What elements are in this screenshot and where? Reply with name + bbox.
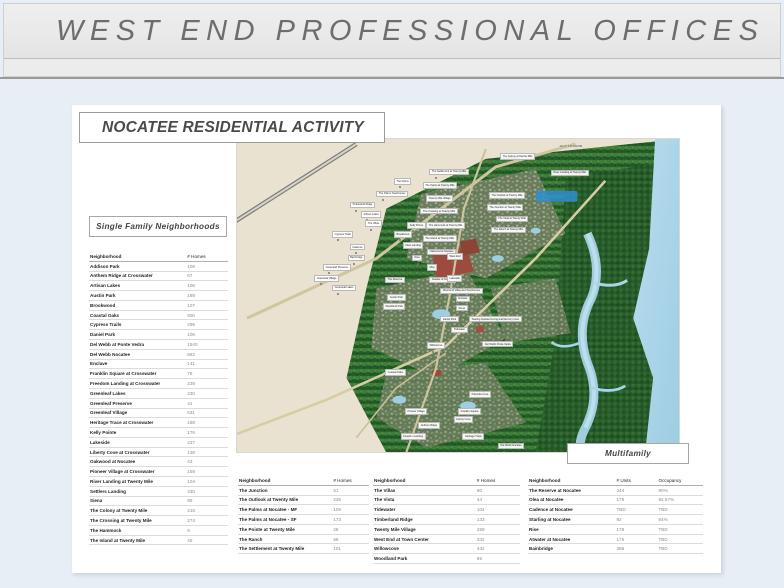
- map-callout-label: Daniel Park: [440, 316, 458, 323]
- single-family-section-label: Single Family Neighborhoods: [96, 222, 220, 231]
- table-row: Greenleaf Village531: [89, 408, 228, 418]
- table-row: Daniel Park106: [89, 330, 228, 340]
- neighborhood-name-cell: Liberty Cove at Crosswater: [89, 447, 186, 457]
- value-cell: TBD: [658, 544, 704, 554]
- map-callout-label: Artisan Lakes: [361, 211, 382, 218]
- map-location-pin: [446, 324, 448, 326]
- neighborhood-name-cell: Cadence at Nocatee: [528, 505, 616, 515]
- map-callout-label: The Colony at Twenty Mile: [500, 153, 535, 160]
- value-cell: 109: [332, 505, 369, 515]
- table-row: The Pointe at Twenty Mile28: [238, 524, 369, 534]
- value-cell: 85: [186, 496, 228, 506]
- header-divider-rule: [0, 77, 784, 79]
- neighborhood-name-cell: The Crossing at Twenty Mile: [89, 516, 186, 526]
- map-callout-label: The Palms at Twenty Mile: [423, 182, 457, 189]
- value-cell: 1940: [186, 340, 228, 350]
- page-title: WEST END PROFESSIONAL OFFICES: [56, 15, 764, 48]
- neighborhood-name-cell: The Junction: [238, 485, 332, 495]
- slide-title-box: NOCATEE RESIDENTIAL ACTIVITY: [79, 112, 385, 143]
- value-cell: 237: [186, 437, 228, 447]
- table-row: Anthem Ridge at Crosswater67: [89, 271, 228, 281]
- multifamily-section-tag: Multifamily: [567, 443, 689, 464]
- bottom-table-1-wrap: Neighborhood# Homes The Junction51The Ou…: [238, 476, 369, 554]
- table-row: Twenty Mile Village259: [373, 524, 520, 534]
- value-cell: 41: [186, 398, 228, 408]
- neighborhood-name-cell: Twenty Mile Village: [373, 524, 476, 534]
- value-cell: 239: [186, 379, 228, 389]
- map-location-pin: [426, 216, 428, 218]
- map-location-pin: [503, 451, 505, 453]
- map-location-pin: [457, 335, 459, 337]
- neighborhood-name-cell: Bainbridge: [528, 544, 616, 554]
- map-callout-label: The Settlement at Twenty Mile: [429, 169, 468, 176]
- value-cell: 28: [332, 524, 369, 534]
- value-cell: 900: [186, 310, 228, 320]
- neighborhood-name-cell: Anthem Ridge at Crosswater: [89, 271, 186, 281]
- table-row: Starling at Nocatee9294%: [528, 515, 703, 525]
- map-callout-label: Austin Park: [387, 294, 405, 301]
- table-row: Del Webb Nocatee862: [89, 349, 228, 359]
- neighborhood-name-cell: Cypress Trails: [89, 320, 186, 330]
- neighborhood-name-cell: Willowcove: [373, 544, 476, 554]
- bottom-table-1: Neighborhood# Homes The Junction51The Ou…: [238, 476, 369, 554]
- table-row: Lakeside237: [89, 437, 228, 447]
- value-cell: 274: [186, 516, 228, 526]
- map-callout-label: Cypress Trails: [332, 231, 353, 238]
- multifamily-table: Neighborhood# UnitsOccupancy The Reserve…: [528, 476, 703, 554]
- map-callout-label: River Landing at Twenty Mile: [551, 170, 589, 177]
- map-callout-label: Anthem Ridge: [418, 422, 439, 429]
- map-callout-label: Freedom Landing: [401, 433, 426, 440]
- table-row: Greenleaf Lakes230: [89, 388, 228, 398]
- table-row: Oakwood at Nocatee43: [89, 457, 228, 467]
- map-callout-label: The Junction at Twenty Mile: [487, 204, 524, 211]
- page-header-banner: WEST END PROFESSIONAL OFFICES: [3, 3, 781, 59]
- value-cell: 67: [186, 271, 228, 281]
- table-row: The Junction51: [238, 485, 369, 495]
- table-row: Siena85: [89, 496, 228, 506]
- value-cell: 218: [186, 506, 228, 516]
- map-callout-label: Woodland Park: [383, 303, 406, 310]
- map-location-pin: [556, 178, 558, 180]
- value-cell: 44: [476, 495, 520, 505]
- value-cell: 65: [476, 554, 520, 564]
- map-callout-label: The Reserve: [385, 277, 405, 284]
- map-location-pin: [488, 349, 490, 351]
- map-callout-label: The Vista at Twenty Mile: [496, 216, 529, 223]
- neighborhood-name-cell: The Outlook at Twenty Mile: [238, 495, 332, 505]
- neighborhood-name-cell: Pioneer Village at Crosswater: [89, 467, 186, 477]
- table-header-row: Neighborhood# Homes: [238, 476, 369, 485]
- map-location-pin: [382, 199, 384, 201]
- neighborhood-name-cell: The Vista: [373, 495, 476, 505]
- neighborhood-name-cell: Greenleaf Village: [89, 408, 186, 418]
- table-row: Willowcove442: [373, 544, 520, 554]
- neighborhood-name-cell: The Palms at Nocatee - MF: [238, 505, 332, 515]
- table-row: River Landing at Twenty Mile104: [89, 476, 228, 486]
- neighborhood-name-cell: The Hammock: [89, 525, 186, 535]
- value-cell: TBD: [658, 505, 704, 515]
- map-callout-label: Coastal Oaks: [385, 369, 406, 376]
- column-header: Neighborhood: [89, 252, 186, 261]
- value-cell: 244: [616, 485, 658, 495]
- neighborhood-name-cell: Daniel Park: [89, 330, 186, 340]
- aerial-map[interactable]: GUY LEGEND PARC The Colony at Twenty Mil…: [236, 138, 680, 453]
- neighborhood-name-cell: Timberland Ridge: [373, 515, 476, 525]
- neighborhood-name-cell: West End at Town Center: [373, 534, 476, 544]
- neighborhood-name-cell: Woodland Park: [373, 554, 476, 564]
- table-row: Timberland Ridge133: [373, 515, 520, 525]
- map-callout-label: Rise: [427, 264, 437, 271]
- bottom-table-2-wrap: Neighborhood# Homes The Villas90The Vist…: [373, 476, 520, 564]
- neighborhood-name-cell: The Settlement at Twenty Mile: [238, 544, 332, 554]
- table-row: The Palms at Nocatee - SF173: [238, 515, 369, 525]
- value-cell: 107: [186, 300, 228, 310]
- column-header: # Homes: [476, 476, 520, 485]
- neighborhood-name-cell: Settlers Landing: [89, 486, 186, 496]
- value-cell: TBD: [658, 534, 704, 544]
- value-cell: 175: [616, 534, 658, 544]
- value-cell: 9: [186, 525, 228, 535]
- value-cell: 230: [186, 388, 228, 398]
- column-header: # Homes: [186, 252, 228, 261]
- table-row: Cypress Trails295: [89, 320, 228, 330]
- value-cell: 94%: [658, 515, 704, 525]
- neighborhood-name-cell: Austin Park: [89, 291, 186, 301]
- map-water-label: GUY LEGEND: [560, 144, 583, 148]
- table-row: Freedom Landing at Crosswater239: [89, 379, 228, 389]
- slide-title: NOCATEE RESIDENTIAL ACTIVITY: [102, 119, 364, 137]
- map-callout-label: Kelly Pointe: [407, 222, 426, 229]
- map-callout-label: Liberty Cove: [454, 416, 474, 423]
- table-row: The Hammock9: [89, 525, 228, 535]
- map-callout-label: The Crossing at Twenty Mile: [420, 208, 457, 215]
- map-callout-label: Twenty Mile Village: [426, 195, 453, 202]
- map-callout-label: Pioneer Village: [405, 408, 427, 415]
- table-row: Tidewater104: [373, 505, 520, 515]
- table-row: Enclave141: [89, 359, 228, 369]
- map-callout-label: West End Villas and Townhomes: [440, 288, 482, 295]
- table-row: The Reserve at Nocatee24490%: [528, 485, 703, 495]
- map-callout-label: Del Webb Ponte Vedra: [482, 341, 513, 348]
- neighborhood-name-cell: Atwater at Nocatee: [528, 534, 616, 544]
- value-cell: 106: [186, 330, 228, 340]
- map-callout-label: The Palms Townhomes: [376, 191, 408, 198]
- map-callout-label: Willowcove: [427, 342, 445, 349]
- map-location-pin: [435, 285, 437, 287]
- value-cell: 101: [332, 544, 369, 554]
- column-header: Neighborhood: [373, 476, 476, 485]
- table-row: Pioneer Village at Crosswater159: [89, 467, 228, 477]
- neighborhood-name-cell: Rise: [528, 524, 616, 534]
- map-location-pin: [435, 177, 437, 179]
- map-callout-label: Greenleaf Lakes: [332, 285, 356, 292]
- neighborhood-name-cell: Heritage Trace at Crosswater: [89, 418, 186, 428]
- map-callout-label: West End: [447, 253, 463, 260]
- table-row: Cadence at NocateeTBDTBD: [528, 505, 703, 515]
- value-cell: 108: [186, 261, 228, 271]
- map-location-pin: [446, 296, 448, 298]
- table-row: Rise178TBD: [528, 524, 703, 534]
- value-cell: 189: [186, 291, 228, 301]
- map-location-pin: [355, 210, 357, 212]
- map-callout-label: Starling Assisted Living and Memory Care: [469, 316, 522, 323]
- map-callout-label: Bainbridge: [348, 255, 365, 262]
- map-callout-label: Lakeside: [447, 275, 462, 282]
- map-location-pin: [417, 263, 419, 265]
- table-row: The Ranch56: [238, 534, 369, 544]
- table-row: Liberty Cove at Crosswater138: [89, 447, 228, 457]
- table-row: Kelly Pointe176: [89, 428, 228, 438]
- single-family-table: Neighborhood# Homes Addison Park108Anthe…: [89, 252, 228, 545]
- neighborhood-name-cell: The Villas: [373, 485, 476, 495]
- column-header: # Units: [616, 476, 658, 485]
- table-row: Woodland Park65: [373, 554, 520, 564]
- table-row: Addison Park108: [89, 261, 228, 271]
- table-row: Heritage Trace at Crosswater188: [89, 418, 228, 428]
- value-cell: 226: [332, 495, 369, 505]
- value-cell: 104: [186, 476, 228, 486]
- neighborhood-name-cell: Freedom Landing at Crosswater: [89, 379, 186, 389]
- value-cell: 45: [186, 535, 228, 545]
- value-cell: 173: [332, 515, 369, 525]
- neighborhood-name-cell: Starling at Nocatee: [528, 515, 616, 525]
- table-row: Austin Park189: [89, 291, 228, 301]
- neighborhood-name-cell: Enclave: [89, 359, 186, 369]
- value-cell: 141: [186, 359, 228, 369]
- neighborhood-name-cell: The Island at Twenty Mile: [89, 535, 186, 545]
- map-callout-label: Fleet Landing: [403, 242, 424, 249]
- neighborhood-name-cell: Franklin Square at Crosswater: [89, 369, 186, 379]
- value-cell: 176: [186, 428, 228, 438]
- neighborhood-name-cell: Greenleaf Preserve: [89, 398, 186, 408]
- table-row: The Villas90: [373, 485, 520, 495]
- table-row: Artisan Lakes106: [89, 281, 228, 291]
- value-cell: 862: [186, 349, 228, 359]
- table-row: Bainbridge396TBD: [528, 544, 703, 554]
- column-header: Occupancy: [658, 476, 704, 485]
- bottom-table-2: Neighborhood# Homes The Villas90The Vist…: [373, 476, 520, 564]
- single-family-section-tag: Single Family Neighborhoods: [89, 216, 227, 237]
- map-callout-label: The Island at Twenty Mile: [423, 235, 457, 242]
- value-cell: 90: [476, 485, 520, 495]
- map-callout-label: Franklin Square: [458, 408, 481, 415]
- table-row: The Crossing at Twenty Mile274: [89, 516, 228, 526]
- value-cell: 92.57%: [658, 495, 704, 505]
- column-header: Neighborhood: [528, 476, 616, 485]
- neighborhood-name-cell: Addison Park: [89, 261, 186, 271]
- map-callout-label: Greenleaf Village: [314, 275, 339, 282]
- neighborhood-name-cell: Greenleaf Lakes: [89, 388, 186, 398]
- neighborhood-name-cell: Coastal Oaks: [89, 310, 186, 320]
- value-cell: 175: [616, 495, 658, 505]
- value-cell: TBD: [616, 505, 658, 515]
- table-row: Olea at Nocatee17592.57%: [528, 495, 703, 505]
- map-location-pin: [353, 263, 355, 265]
- value-cell: 178: [616, 524, 658, 534]
- map-location-pin: [501, 224, 503, 226]
- table-row: The Vista44: [373, 495, 520, 505]
- map-callout-label: The Outlook at Twenty Mile: [489, 192, 525, 199]
- value-cell: 396: [616, 544, 658, 554]
- map-callout-label: Timberland Ridge: [350, 202, 375, 209]
- table-row: Atwater at Nocatee175TBD: [528, 534, 703, 544]
- map-callout-label: Del Webb Nocatee: [498, 443, 525, 450]
- value-cell: 76: [186, 369, 228, 379]
- map-callout-label: Brookwood: [394, 231, 412, 238]
- value-cell: 330: [186, 486, 228, 496]
- column-header: # Homes: [332, 476, 369, 485]
- map-location-pin: [355, 252, 357, 254]
- neighborhood-name-cell: Artisan Lakes: [89, 281, 186, 291]
- map-callout-label: Tidewater: [451, 327, 467, 334]
- table-row: Franklin Square at Crosswater76: [89, 369, 228, 379]
- neighborhood-name-cell: Lakeside: [89, 437, 186, 447]
- map-callout-label: Siena: [456, 305, 468, 312]
- map-callout-label: The Hammock at Twenty Mile: [426, 222, 465, 229]
- table-row: Greenleaf Preserve41: [89, 398, 228, 408]
- neighborhood-name-cell: Del Webb at Ponte Vedra: [89, 340, 186, 350]
- neighborhood-name-cell: River Landing at Twenty Mile: [89, 476, 186, 486]
- column-header: Neighborhood: [238, 476, 332, 485]
- table-row: Coastal Oaks900: [89, 310, 228, 320]
- neighborhood-name-cell: The Pointe at Twenty Mile: [238, 524, 332, 534]
- value-cell: 138: [186, 447, 228, 457]
- value-cell: 92: [616, 515, 658, 525]
- value-cell: 188: [186, 418, 228, 428]
- value-cell: 531: [186, 408, 228, 418]
- table-row: The Settlement at Twenty Mile101: [238, 544, 369, 554]
- value-cell: 106: [186, 281, 228, 291]
- value-cell: 56: [332, 534, 369, 544]
- table-header-row: Neighborhood# Homes: [89, 252, 228, 261]
- table-row: The Island at Twenty Mile45: [89, 535, 228, 545]
- map-callout-label: The Ranch at Twenty Mile: [491, 227, 526, 234]
- map-callout-label: Greenleaf Preserve: [323, 264, 350, 271]
- table-header-row: Neighborhood# Homes: [373, 476, 520, 485]
- map-callout-label: Enclave: [456, 296, 470, 303]
- map-callout-label: The Palms: [394, 178, 411, 185]
- map-callout-label: Heritage Trace: [462, 433, 484, 440]
- header-sub-strip: [3, 59, 781, 77]
- value-cell: 43: [186, 457, 228, 467]
- table-row: The Colony at Twenty Mile218: [89, 506, 228, 516]
- neighborhood-name-cell: The Reserve at Nocatee: [528, 485, 616, 495]
- table-row: Settlers Landing330: [89, 486, 228, 496]
- value-cell: 259: [476, 524, 520, 534]
- table-row: West End at Town Center342: [373, 534, 520, 544]
- neighborhood-name-cell: Brookwood: [89, 300, 186, 310]
- value-cell: 159: [186, 467, 228, 477]
- map-callout-label: Cadence: [350, 244, 365, 251]
- value-cell: 442: [476, 544, 520, 554]
- map-callout-label: Olea: [412, 255, 423, 262]
- value-cell: 342: [476, 534, 520, 544]
- value-cell: 90%: [658, 485, 704, 495]
- map-location-pin: [428, 244, 430, 246]
- value-cell: TBD: [658, 524, 704, 534]
- neighborhood-name-cell: Tidewater: [373, 505, 476, 515]
- value-cell: 51: [332, 485, 369, 495]
- table-row: Del Webb at Ponte Vedra1940: [89, 340, 228, 350]
- single-family-table-wrap: Neighborhood# Homes Addison Park108Anthe…: [89, 252, 228, 545]
- neighborhood-name-cell: Del Webb Nocatee: [89, 349, 186, 359]
- map-callout-label: Palmetto Cove: [469, 391, 491, 398]
- neighborhood-name-cell: Oakwood at Nocatee: [89, 457, 186, 467]
- table-row: The Palms at Nocatee - MF109: [238, 505, 369, 515]
- table-row: The Outlook at Twenty Mile226: [238, 495, 369, 505]
- neighborhood-name-cell: Kelly Pointe: [89, 428, 186, 438]
- value-cell: 133: [476, 515, 520, 525]
- value-cell: 295: [186, 320, 228, 330]
- neighborhood-name-cell: Siena: [89, 496, 186, 506]
- multifamily-table-wrap: Neighborhood# UnitsOccupancy The Reserve…: [528, 476, 703, 554]
- neighborhood-name-cell: The Ranch: [238, 534, 332, 544]
- multifamily-section-label: Multifamily: [605, 449, 651, 458]
- value-cell: 104: [476, 505, 520, 515]
- map-callout-label: The Villas: [365, 220, 381, 227]
- table-header-row: Neighborhood# UnitsOccupancy: [528, 476, 703, 485]
- neighborhood-name-cell: The Palms at Nocatee - SF: [238, 515, 332, 525]
- neighborhood-name-cell: The Colony at Twenty Mile: [89, 506, 186, 516]
- neighborhood-name-cell: Olea at Nocatee: [528, 495, 616, 505]
- table-row: Brookwood107: [89, 300, 228, 310]
